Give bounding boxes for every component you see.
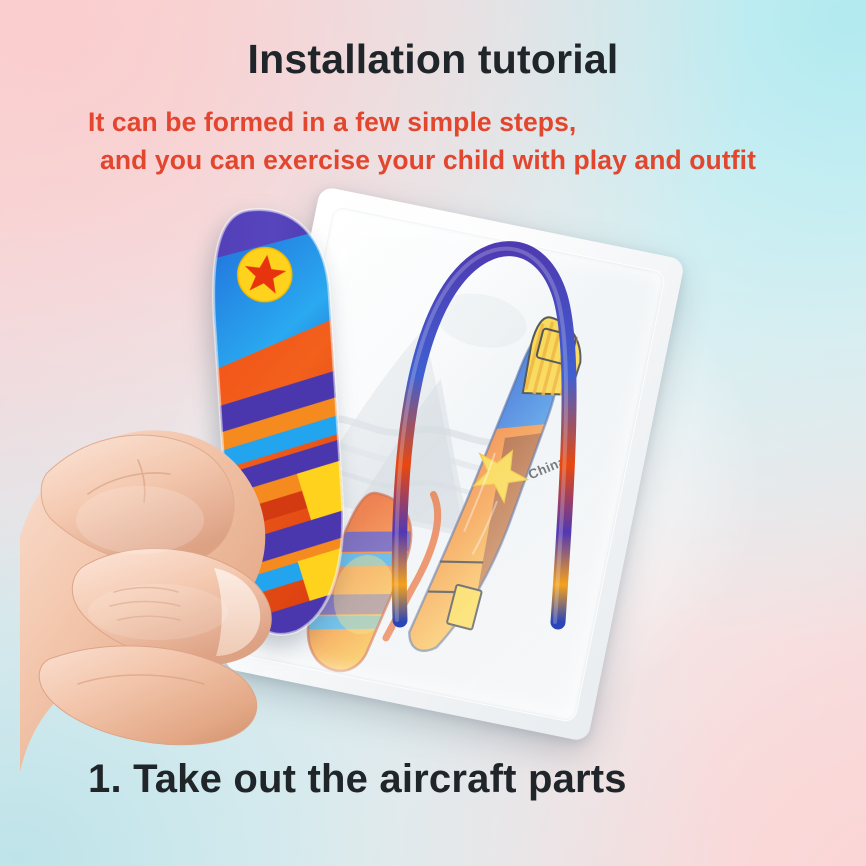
tutorial-slide: Installation tutorial It can be formed i…: [0, 0, 866, 866]
subtitle-line-2: and you can exercise your child with pla…: [88, 142, 828, 180]
hand: [18, 416, 348, 788]
page-title: Installation tutorial: [0, 36, 866, 83]
subtitle-line-1: It can be formed in a few simple steps,: [88, 107, 576, 137]
subtitle-block: It can be formed in a few simple steps, …: [88, 104, 828, 179]
wing-strip-part: [392, 224, 622, 644]
step-caption: 1. Take out the aircraft parts: [88, 757, 627, 802]
product-photo: Made in China: [0, 180, 866, 780]
